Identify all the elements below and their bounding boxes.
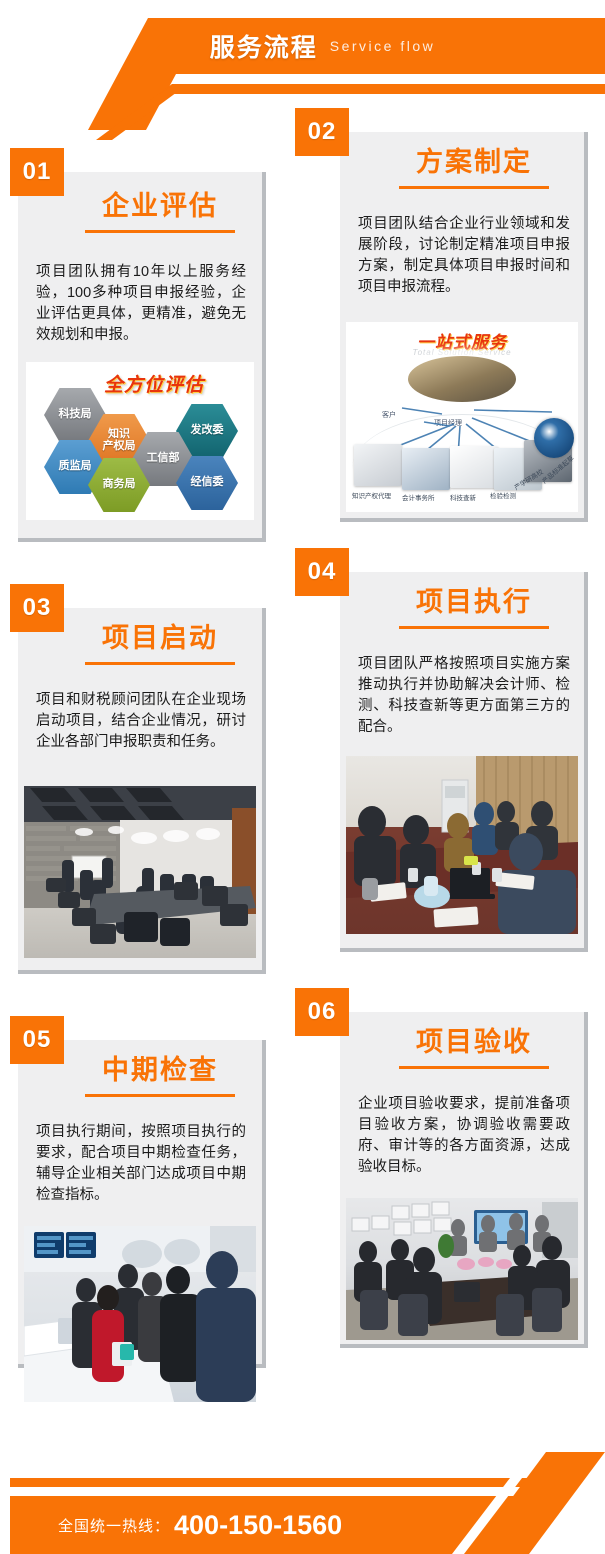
- card-03[interactable]: 项目启动 项目和财税顾问团队在企业现场启动项目，结合企业情况，研讨企业各部门申报…: [18, 608, 266, 974]
- card-description: 项目和财税顾问团队在企业现场启动项目，结合企业情况，研讨企业各部门申报职责和任务…: [36, 690, 246, 753]
- card-title: 项目验收: [378, 1020, 570, 1059]
- card-title: 企业评估: [72, 184, 248, 223]
- card-photo-project-execution: [346, 756, 578, 934]
- card-title: 中期检查: [72, 1048, 248, 1087]
- service-caption-2: 科技查新: [450, 492, 476, 502]
- service-node-0: [354, 444, 402, 486]
- service-caption-0: 知识产权代理: [352, 490, 391, 500]
- hotline-label: 全国统一热线：: [58, 1515, 170, 1536]
- card-surface: 项目执行 项目团队严格按照项目实施方案推动执行并协助解决会计师、检测、科技查新等…: [340, 572, 584, 948]
- page-header: 服务流程 Service flow: [0, 0, 605, 100]
- card-04[interactable]: 项目执行 项目团队严格按照项目实施方案推动执行并协助解决会计师、检测、科技查新等…: [340, 572, 588, 952]
- card-photo-project-kickoff: [24, 786, 256, 958]
- card-02[interactable]: 方案制定 项目团队结合企业行业领域和发展阶段，讨论制定精准项目申报方案，制定具体…: [340, 132, 588, 522]
- title-underline: [85, 662, 235, 665]
- header-title-group: 服务流程 Service flow: [0, 18, 605, 74]
- service-caption-1: 会计事务所: [402, 492, 435, 502]
- card-number-badge: 03: [10, 584, 64, 632]
- card-number-badge: 02: [295, 108, 349, 156]
- card-surface: 项目启动 项目和财税顾问团队在企业现场启动项目，结合企业情况，研讨企业各部门申报…: [18, 608, 262, 970]
- card-description: 项目团队严格按照项目实施方案推动执行并协助解决会计师、检测、科技查新等更方面第三…: [358, 654, 570, 738]
- footer-stripe-shape: [10, 1478, 450, 1487]
- card-description: 企业项目验收要求，提前准备项目验收方案，协调验收需要政府、审计等的各方面资源，达…: [358, 1094, 570, 1178]
- page-title: 服务流程: [210, 28, 318, 64]
- card-title: 项目执行: [378, 580, 570, 619]
- title-underline: [85, 1094, 235, 1097]
- title-underline: [399, 1066, 549, 1069]
- card-surface: 企业评估 项目团队拥有10年以上服务经验，100多种项目申报经验，企业评估更具体…: [18, 172, 262, 538]
- card-surface: 中期检查 项目执行期间，按照项目执行的要求，配合项目中期检查任务，辅导企业相关部…: [18, 1040, 262, 1364]
- hotline-number[interactable]: 400-150-1560: [174, 1510, 342, 1541]
- card-number-badge: 05: [10, 1016, 64, 1064]
- header-stripe-shape: [160, 84, 605, 94]
- title-underline: [399, 186, 549, 189]
- card-description: 项目团队结合企业行业领域和发展阶段，讨论制定精准项目申报方案，制定具体项目申报时…: [358, 214, 570, 298]
- page-root: 服务流程 Service flow 企业评估 项目团队拥有10年以上服务经验，1…: [0, 0, 605, 1538]
- page-footer: 全国统一热线： 400-150-1560: [0, 1438, 605, 1538]
- hexagon-diagram-title: 全方位评估: [104, 370, 204, 397]
- card-description: 项目团队拥有10年以上服务经验，100多种项目申报经验，企业评估更具体，更精准，…: [36, 262, 246, 346]
- title-underline: [399, 626, 549, 629]
- card-number-badge: 04: [295, 548, 349, 596]
- card-number-badge: 06: [295, 988, 349, 1036]
- service-caption-3: 检验检测: [490, 490, 516, 500]
- card-title: 方案制定: [378, 140, 570, 179]
- one-stop-service-diagram: 一站式服务 Total Solution Service 客户 项目经理: [346, 322, 578, 512]
- assessment-hexagon-diagram: 全方位评估 科技局 知识 产权局 发改委 质监局 工信部 商务局: [26, 362, 254, 520]
- card-05[interactable]: 中期检查 项目执行期间，按照项目执行的要求，配合项目中期检查任务，辅导企业相关部…: [18, 1040, 266, 1368]
- card-surface: 项目验收 企业项目验收要求，提前准备项目验收方案，协调验收需要政府、审计等的各方…: [340, 1012, 584, 1344]
- card-description: 项目执行期间，按照项目执行的要求，配合项目中期检查任务，辅导企业相关部门达成项目…: [36, 1122, 246, 1206]
- card-number-badge: 01: [10, 148, 64, 196]
- title-underline: [85, 230, 235, 233]
- card-photo-midterm-inspection: [24, 1226, 256, 1402]
- card-title: 项目启动: [72, 616, 248, 655]
- card-surface: 方案制定 项目团队结合企业行业领域和发展阶段，讨论制定精准项目申报方案，制定具体…: [340, 132, 584, 518]
- card-01[interactable]: 企业评估 项目团队拥有10年以上服务经验，100多种项目申报经验，企业评估更具体…: [18, 172, 266, 542]
- service-node-2: [450, 446, 498, 488]
- card-photo-project-acceptance: [346, 1198, 578, 1340]
- hotline-group[interactable]: 全国统一热线： 400-150-1560: [10, 1496, 468, 1554]
- card-06[interactable]: 项目验收 企业项目验收要求，提前准备项目验收方案，协调验收需要政府、审计等的各方…: [340, 1012, 588, 1348]
- page-subtitle: Service flow: [330, 38, 435, 54]
- service-node-1: [402, 448, 450, 490]
